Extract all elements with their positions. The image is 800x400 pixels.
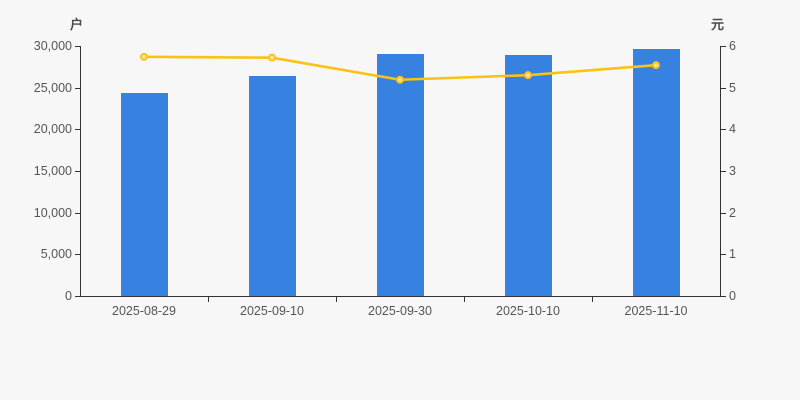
x-axis-tick — [592, 297, 593, 302]
y-axis-right-tick-label: 3 — [729, 164, 736, 178]
y-axis-left-tick-label: 25,000 — [34, 81, 72, 95]
y-axis-left-tick-label: 0 — [65, 289, 72, 303]
y-axis-right-tick — [721, 171, 726, 172]
y-axis-right-tick-label: 2 — [729, 206, 736, 220]
line-marker[interactable]: 2025-09-30: 5.19元 — [397, 77, 403, 83]
y-axis-right-tick — [721, 129, 726, 130]
plot-area: 05,00010,00015,00020,00025,00030,000 012… — [80, 46, 720, 296]
y-axis-left-tick-label: 5,000 — [41, 247, 72, 261]
y-axis-right-tick — [721, 46, 726, 47]
y-axis-right-tick — [721, 213, 726, 214]
y-axis-left-tick-label: 30,000 — [34, 39, 72, 53]
line-series: 2025-08-29: 5.74元2025-09-10: 5.72元2025-0… — [80, 46, 720, 297]
x-axis-tick — [208, 297, 209, 302]
right-axis-unit-label: 元 — [711, 14, 724, 33]
y-axis-right-tick-label: 5 — [729, 81, 736, 95]
y-axis-right-tick-label: 6 — [729, 39, 736, 53]
line-marker[interactable]: 2025-08-29: 5.74元 — [141, 54, 147, 60]
y-axis-right-tick — [721, 88, 726, 89]
stock-holder-chart: 户 元 05,00010,00015,00020,00025,00030,000… — [0, 0, 800, 400]
y-axis-right-tick-label: 4 — [729, 122, 736, 136]
y-axis-right-tick-label: 1 — [729, 247, 736, 261]
x-axis-tick-label: 2025-11-10 — [624, 304, 687, 318]
y-axis-right-tick — [721, 296, 726, 297]
x-axis-tick — [464, 297, 465, 302]
x-axis-tick-label: 2025-09-30 — [368, 304, 432, 318]
x-axis-tick-label: 2025-09-10 — [240, 304, 304, 318]
y-axis-left-tick-label: 15,000 — [34, 164, 72, 178]
y-axis-right-tick-label: 0 — [729, 289, 736, 303]
x-axis-tick — [336, 297, 337, 302]
x-axis-tick-label: 2025-08-29 — [112, 304, 176, 318]
x-axis-tick-label: 2025-10-10 — [496, 304, 560, 318]
y-axis-left-tick-label: 10,000 — [34, 206, 72, 220]
left-axis-unit-label: 户 — [70, 14, 83, 33]
line-marker[interactable]: 2025-10-10: 5.3元 — [525, 72, 531, 78]
line-marker[interactable]: 2025-11-10: 5.54元 — [653, 62, 659, 68]
y-axis-right-tick — [721, 254, 726, 255]
y-axis-left-tick-label: 20,000 — [34, 122, 72, 136]
line-marker[interactable]: 2025-09-10: 5.72元 — [269, 55, 275, 61]
